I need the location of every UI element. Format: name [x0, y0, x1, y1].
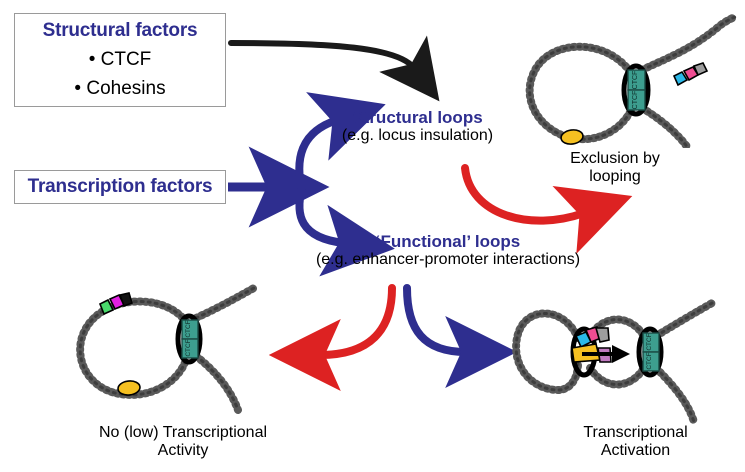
ctcf-site-pair: CTCF CTCF — [628, 70, 645, 110]
chromatin-fiber-active — [516, 302, 714, 422]
yellow-mark-icon — [560, 129, 584, 146]
caption-exclusion-line-1: Exclusion by — [525, 150, 705, 168]
caption-exclusion-line-2: looping — [525, 168, 705, 186]
caption-transcriptional-activation: Transcriptional Activation — [528, 424, 743, 460]
transcription-factors-title: Transcription factors — [28, 176, 213, 198]
svg-text:CTCF: CTCF — [185, 339, 192, 356]
diagram-canvas: Structural factors • CTCF • Cohesins Tra… — [0, 0, 745, 472]
caption-activation-line-2: Activation — [528, 442, 743, 460]
ctcf-site-pair: CTCF CTCF — [643, 333, 659, 371]
arrow-functional-loops-to-no-activity — [320, 288, 392, 355]
structural-factors-title: Structural factors — [43, 20, 198, 42]
svg-text:CTCF: CTCF — [632, 91, 639, 110]
caption-no-low-activity: No (low) Transcriptional Activity — [53, 424, 313, 460]
structural-factors-box: Structural factors • CTCF • Cohesins — [14, 13, 226, 107]
functional-loops-subtitle: (e.g. enhancer-promoter interactions) — [298, 251, 598, 269]
ctcf-site-pair: CTCF CTCF — [182, 320, 198, 358]
illustration-no-low-activity: CTCF CTCF — [58, 282, 308, 417]
functional-loops-title: ‘Functional’ loops — [298, 232, 598, 251]
transcription-factors-box: Transcription factors — [14, 170, 226, 204]
node-functional-loops: ‘Functional’ loops (e.g. enhancer-promot… — [298, 232, 598, 269]
svg-text:CTCF: CTCF — [646, 333, 653, 350]
caption-activation-line-1: Transcriptional — [528, 424, 743, 442]
caption-no-activity-line-2: Activity — [53, 442, 313, 460]
caption-exclusion-by-looping: Exclusion by looping — [525, 150, 705, 186]
svg-text:CTCF: CTCF — [185, 320, 192, 337]
structural-factors-bullet-cohesins: • Cohesins — [74, 78, 165, 100]
caption-no-activity-line-1: No (low) Transcriptional — [53, 424, 313, 442]
structural-factors-bullet-ctcf: • CTCF — [89, 49, 152, 71]
illustration-exclusion-by-looping: CTCF CTCF — [492, 8, 745, 148]
illustration-transcriptional-activation: CTCF CTCF — [512, 292, 745, 424]
svg-text:CTCF: CTCF — [646, 352, 653, 369]
arrow-functional-loops-to-activation — [407, 288, 466, 352]
arrow-structural-factors-to-structural-loops — [231, 43, 414, 68]
factor-shapes-exclusion — [674, 63, 707, 85]
svg-text:CTCF: CTCF — [632, 71, 639, 90]
factor-shapes-inactive — [100, 293, 132, 314]
